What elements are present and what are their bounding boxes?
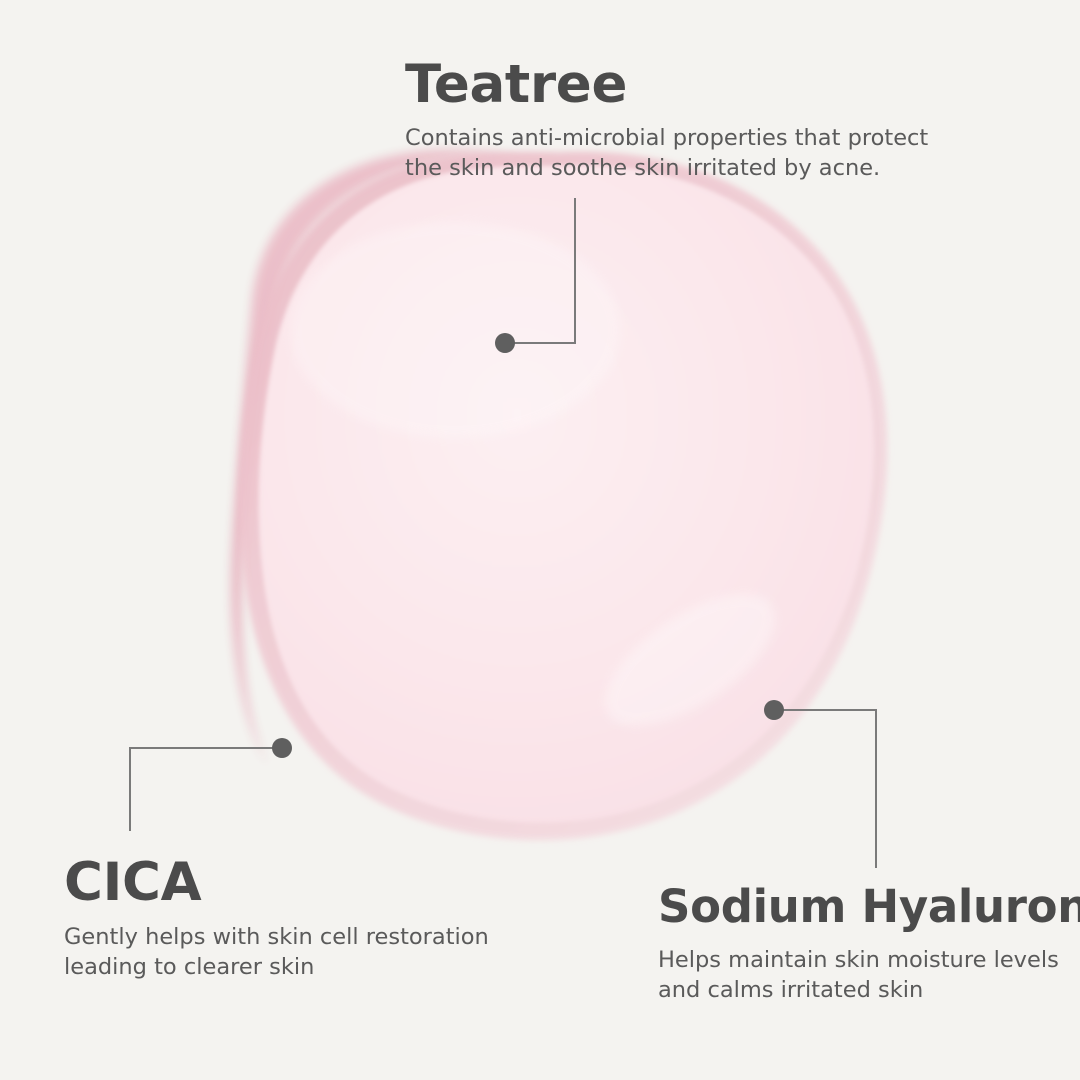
- connector-line-teatree: [505, 198, 575, 343]
- callout-title-teatree: Teatree: [405, 58, 928, 111]
- callout-body-cica: Gently helps with skin cell restoration …: [64, 923, 489, 982]
- connector-dot-teatree[interactable]: [495, 333, 515, 353]
- callout-body-sodium-hyaluronate: Helps maintain skin moisture levels and …: [658, 946, 1080, 1005]
- connector-line-cica: [130, 748, 282, 831]
- callout-title-cica: CICA: [64, 856, 489, 909]
- callout-title-sodium-hyaluronate: Sodium Hyaluronate: [658, 884, 1080, 929]
- callout-body-teatree: Contains anti-microbial properties that …: [405, 124, 928, 183]
- connector-line-sodium-hyaluronate: [774, 710, 876, 868]
- connector-dot-sodium-hyaluronate[interactable]: [764, 700, 784, 720]
- infographic-canvas: Teatree Contains anti-microbial properti…: [0, 0, 1080, 1080]
- callout-cica: CICA Gently helps with skin cell restora…: [64, 856, 489, 982]
- connector-dot-cica[interactable]: [272, 738, 292, 758]
- callout-teatree: Teatree Contains anti-microbial properti…: [405, 58, 928, 183]
- callout-sodium-hyaluronate: Sodium Hyaluronate Helps maintain skin m…: [658, 884, 1080, 1005]
